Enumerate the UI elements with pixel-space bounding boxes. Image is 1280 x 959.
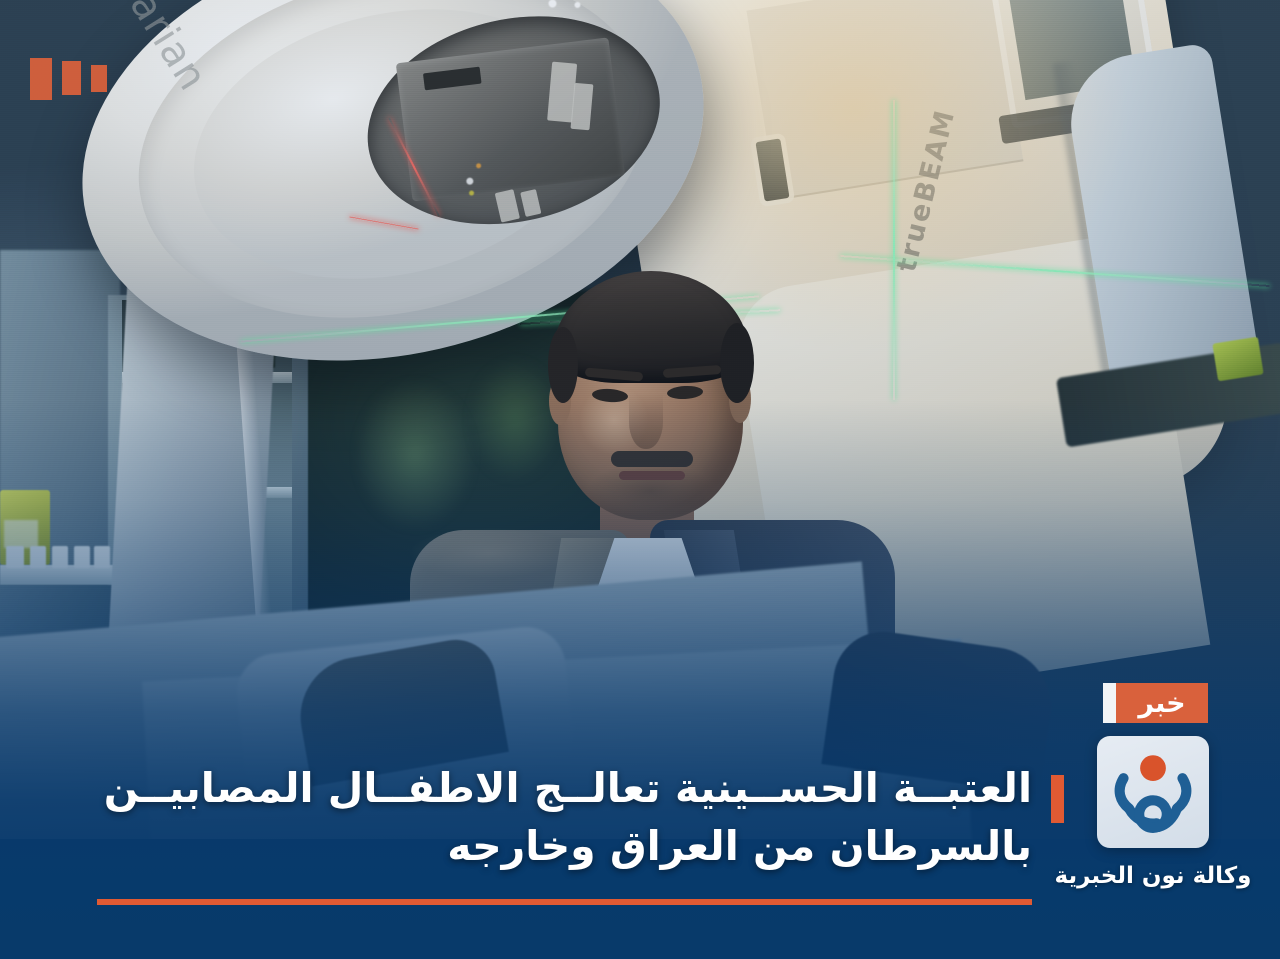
headline-block: العتبــة الحســينية تعالــج الاطفــال ال… — [92, 759, 1032, 875]
three-bars-mark — [30, 58, 107, 100]
news-badge: خبر — [1098, 683, 1207, 723]
headline-underline-rule — [97, 899, 1032, 905]
news-card-graphic: trueBEAM varian — [0, 0, 1280, 959]
agency-name: وكالة نون الخبرية — [1055, 863, 1252, 889]
bar-icon-tall — [30, 58, 52, 100]
noon-letter-logo-icon — [1107, 746, 1199, 838]
agency-logo-tile — [1097, 736, 1209, 848]
bar-icon-medium — [62, 61, 81, 95]
news-badge-tick — [1103, 683, 1116, 723]
headline-line-2: بالسرطان من العراق وخارجه — [92, 817, 1032, 875]
bar-icon-short — [91, 65, 107, 92]
headline-line-1: العتبــة الحســينية تعالــج الاطفــال ال… — [92, 759, 1032, 817]
brand-block: خبر وكالة نون الخبرية — [1048, 683, 1258, 889]
news-badge-label: خبر — [1116, 683, 1207, 723]
